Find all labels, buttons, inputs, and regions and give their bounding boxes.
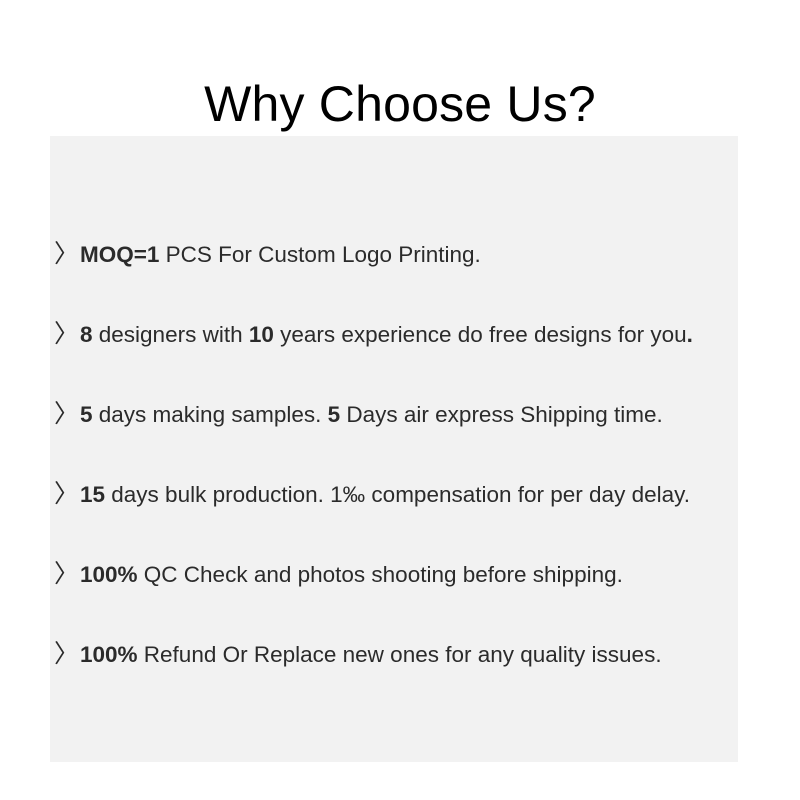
list-item-highlight-secondary: 5 [328, 402, 341, 427]
benefits-list: 〉 MOQ=1 PCS For Custom Logo Printing. 〉 … [50, 136, 738, 762]
list-item-highlight: 100% [80, 562, 138, 587]
list-item-text: 15 days bulk production. 1‰ compensation… [80, 480, 690, 510]
list-item-highlight: 5 [80, 402, 93, 427]
list-item-text: 5 days making samples. 5 Days air expres… [80, 400, 663, 430]
list-item-body: Refund Or Replace new ones for any quali… [138, 642, 662, 667]
list-item: 〉 8 designers with 10 years experience d… [54, 319, 754, 350]
list-item: 〉 15 days bulk production. 1‰ compensati… [54, 479, 754, 510]
list-item: 〉 MOQ=1 PCS For Custom Logo Printing. [54, 239, 754, 270]
list-item-body: days making samples. [93, 402, 328, 427]
list-item-text: MOQ=1 PCS For Custom Logo Printing. [80, 240, 481, 270]
page-title: Why Choose Us? [0, 77, 800, 132]
list-item: 〉 5 days making samples. 5 Days air expr… [54, 399, 754, 430]
list-item-text: 100% QC Check and photos shooting before… [80, 560, 623, 590]
why-choose-us-page: Why Choose Us? 〉 MOQ=1 PCS For Custom Lo… [0, 0, 800, 800]
chevron-right-icon: 〉 [54, 399, 80, 429]
list-item-highlight: 8 [80, 322, 93, 347]
list-item-body: designers with [93, 322, 249, 347]
list-item-body: QC Check and photos shooting before ship… [138, 562, 623, 587]
list-item-body: years experience do free designs for you [274, 322, 687, 347]
list-item-text: 100% Refund Or Replace new ones for any … [80, 640, 662, 670]
list-item-text: 8 designers with 10 years experience do … [80, 320, 693, 350]
list-item-body: Days air express Shipping time. [340, 402, 663, 427]
list-item-body: PCS For Custom Logo Printing. [159, 242, 480, 267]
list-item-highlight: 15 [80, 482, 105, 507]
chevron-right-icon: 〉 [54, 319, 80, 349]
benefits-panel: 〉 MOQ=1 PCS For Custom Logo Printing. 〉 … [50, 136, 738, 762]
list-item-highlight-secondary: 10 [249, 322, 274, 347]
chevron-right-icon: 〉 [54, 559, 80, 589]
list-item: 〉 100% QC Check and photos shooting befo… [54, 559, 754, 590]
list-item-highlight: 100% [80, 642, 138, 667]
chevron-right-icon: 〉 [54, 639, 80, 669]
list-item-period: . [687, 322, 693, 347]
list-item-highlight: MOQ=1 [80, 242, 159, 267]
list-item: 〉 100% Refund Or Replace new ones for an… [54, 639, 754, 670]
list-item-body: days bulk production. 1‰ compensation fo… [105, 482, 690, 507]
chevron-right-icon: 〉 [54, 239, 80, 269]
chevron-right-icon: 〉 [54, 479, 80, 509]
